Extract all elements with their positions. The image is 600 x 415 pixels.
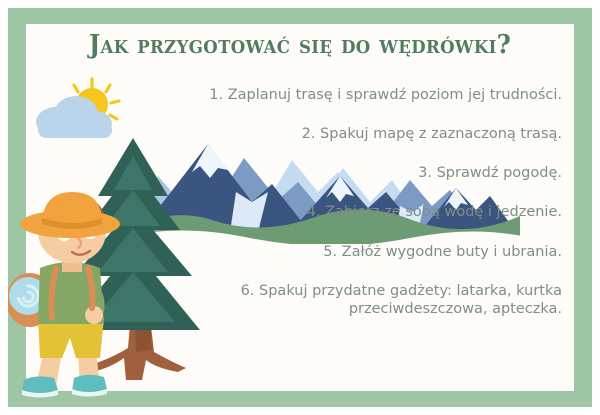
list-item: 3. Sprawdź pogodę.	[122, 164, 562, 182]
list-item: 4. Zabierz ze sobą wodę i jedzenie.	[122, 203, 562, 221]
list-item: 6. Spakuj przydatne gadżety: latarka, ku…	[122, 282, 562, 318]
list-item: 2. Spakuj mapę z zaznaczoną trasą.	[122, 125, 562, 143]
page-title: Jak przygotować się do wędrówki?	[48, 30, 552, 60]
list-item: 1. Zaplanuj trasę i sprawdź poziom jej t…	[122, 86, 562, 104]
steps-list: 1. Zaplanuj trasę i sprawdź poziom jej t…	[122, 86, 562, 318]
poster-canvas: Jak przygotować się do wędrówki? 1. Zapl…	[0, 0, 600, 415]
list-item: 5. Załóż wygodne buty i ubrania.	[122, 243, 562, 261]
